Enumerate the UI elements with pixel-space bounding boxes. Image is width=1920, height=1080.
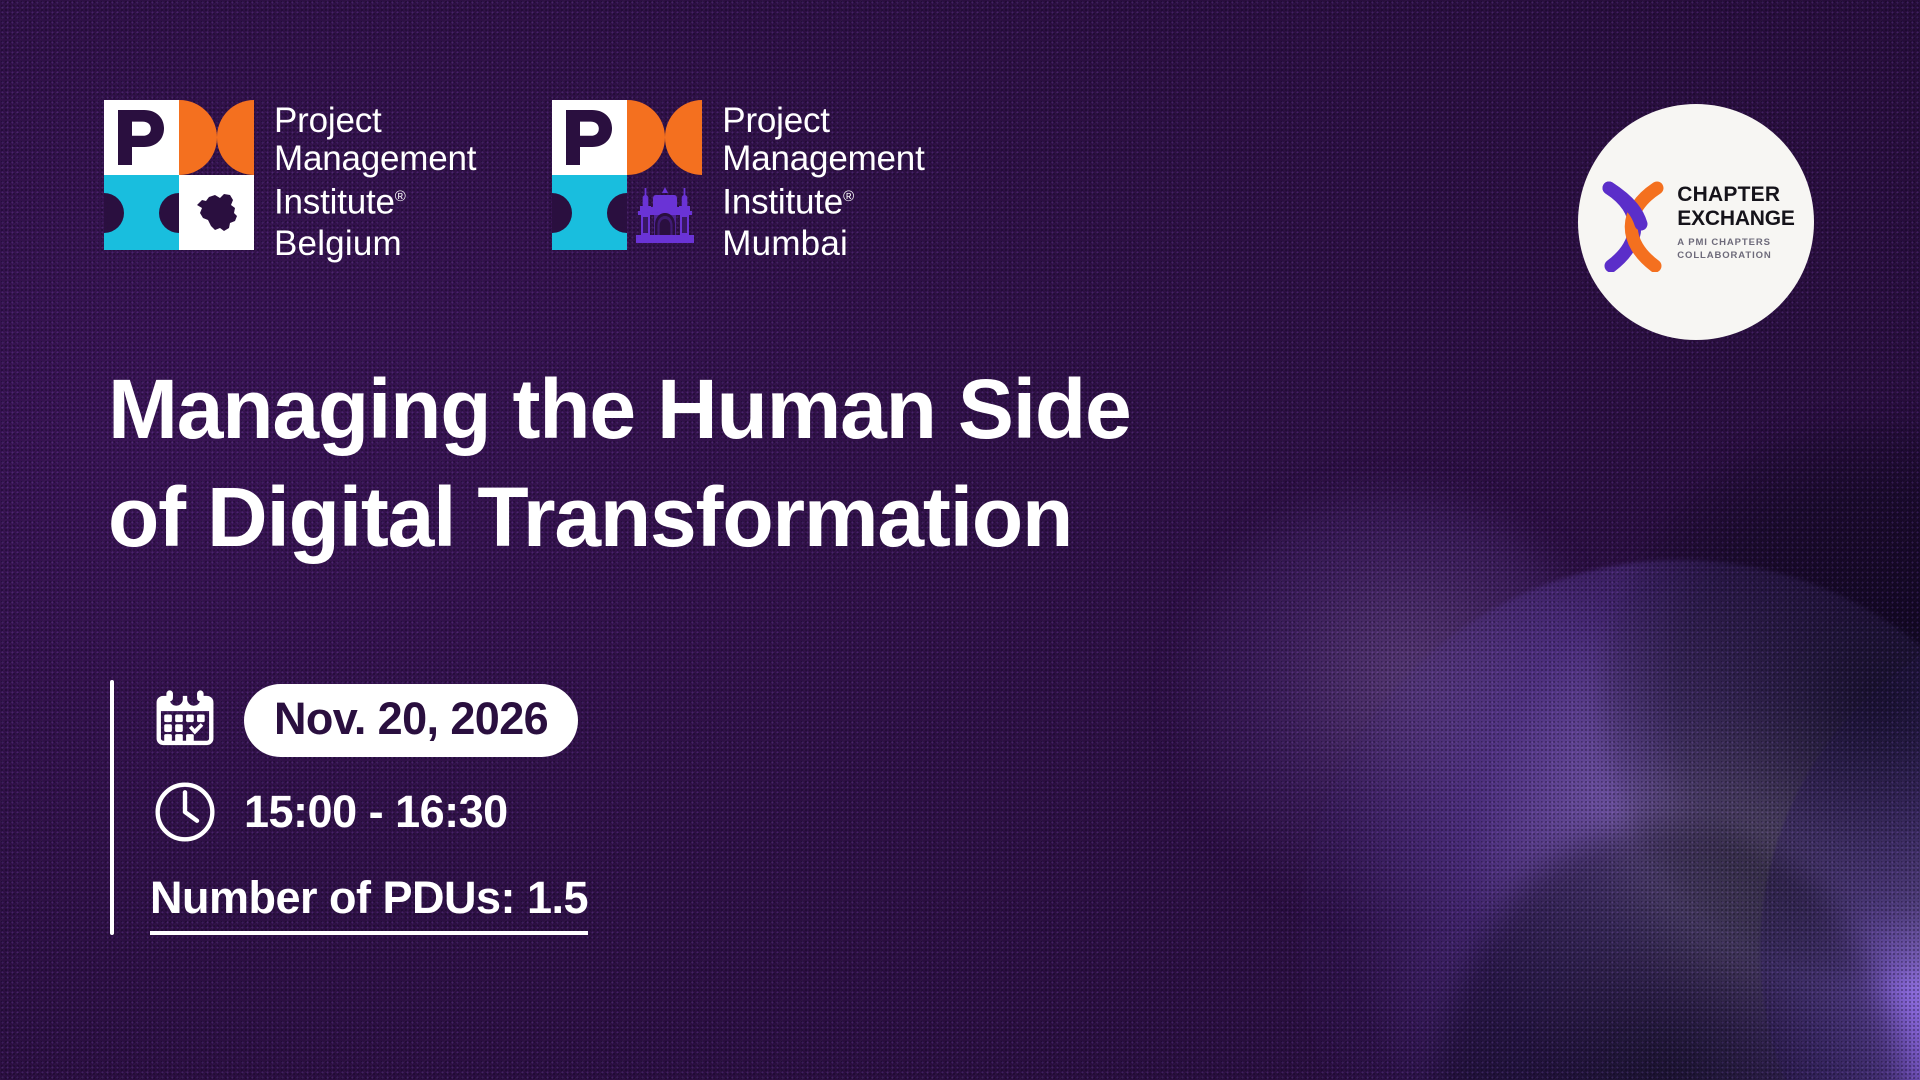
logo-cell-letter-m (627, 100, 702, 175)
badge-line-1: CHAPTER (1677, 183, 1794, 207)
pmi-chapter-name: Belgium (274, 224, 476, 264)
event-details: Nov. 20, 2026 15:00 - 16:30 Number of PD… (110, 680, 588, 935)
pmi-chapter-name: Mumbai (722, 224, 924, 264)
registered-mark: ® (395, 188, 406, 205)
logo-cell-letter-i (104, 175, 179, 250)
title-line-1: Managing the Human Side (108, 355, 1288, 463)
crossed-x-icon (1597, 180, 1671, 264)
letter-m-left-half (179, 100, 217, 175)
logo-row: Project Management Institute® Belgium (104, 100, 925, 264)
letter-m-right-half (665, 100, 703, 175)
pmi-mumbai-wordmark: Project Management Institute® Mumbai (722, 100, 924, 264)
event-date-row: Nov. 20, 2026 (150, 684, 588, 757)
logo-cell-letter-m (179, 100, 254, 175)
badge-line-4: COLLABORATION (1677, 250, 1794, 262)
badge-line-2: EXCHANGE (1677, 207, 1794, 231)
pmi-line-2: Management (722, 140, 924, 178)
logo-cell-gateway-of-india (627, 175, 702, 250)
badge-line-3: A PMI CHAPTERS (1677, 237, 1794, 249)
event-time-text: 15:00 - 16:30 (244, 786, 508, 838)
event-banner: Project Management Institute® Belgium (0, 0, 1920, 1080)
event-pdu-row: Number of PDUs:1.5 (150, 867, 588, 935)
logo-cell-letter-p (104, 100, 179, 175)
vertical-accent-rule (110, 680, 114, 935)
logo-cell-letter-i (552, 175, 627, 250)
letter-p-glyph (552, 100, 627, 175)
pmi-belgium-logo: Project Management Institute® Belgium (104, 100, 476, 264)
pmi-line-3: Institute® (722, 178, 924, 222)
pmi-line-1: Project (722, 102, 924, 140)
title-line-2: of Digital Transformation (108, 463, 1288, 571)
pmi-belgium-wordmark: Project Management Institute® Belgium (274, 100, 476, 264)
registered-mark: ® (843, 188, 854, 205)
letter-m-left-half (627, 100, 665, 175)
logo-cell-belgium-map (179, 175, 254, 250)
chapter-exchange-text: CHAPTER EXCHANGE A PMI CHAPTERS COLLABOR… (1677, 183, 1794, 262)
letter-p-glyph (104, 100, 179, 175)
pmi-logo-mark (104, 100, 254, 250)
calendar-check-icon (150, 686, 220, 756)
pmi-line-3: Institute® (274, 178, 476, 222)
pmi-line-2: Management (274, 140, 476, 178)
event-detail-rows: Nov. 20, 2026 15:00 - 16:30 Number of PD… (150, 680, 588, 935)
event-time-row: 15:00 - 16:30 (150, 777, 588, 847)
pmi-line-1: Project (274, 102, 476, 140)
letter-m-right-half (217, 100, 255, 175)
pmi-line-3-text: Institute (722, 183, 843, 222)
pdu-label: Number of PDUs: (150, 872, 515, 923)
clock-icon (150, 777, 220, 847)
pmi-logo-mark (552, 100, 702, 250)
page-title: Managing the Human Side of Digital Trans… (108, 355, 1288, 571)
logo-cell-letter-p (552, 100, 627, 175)
pmi-line-3-text: Institute (274, 183, 395, 222)
chapter-exchange-badge: CHAPTER EXCHANGE A PMI CHAPTERS COLLABOR… (1578, 104, 1814, 340)
pdu-value: 1.5 (527, 872, 588, 923)
event-date-badge: Nov. 20, 2026 (244, 684, 578, 757)
pdu-text: Number of PDUs:1.5 (150, 871, 588, 935)
pmi-mumbai-logo: Project Management Institute® Mumbai (552, 100, 924, 264)
